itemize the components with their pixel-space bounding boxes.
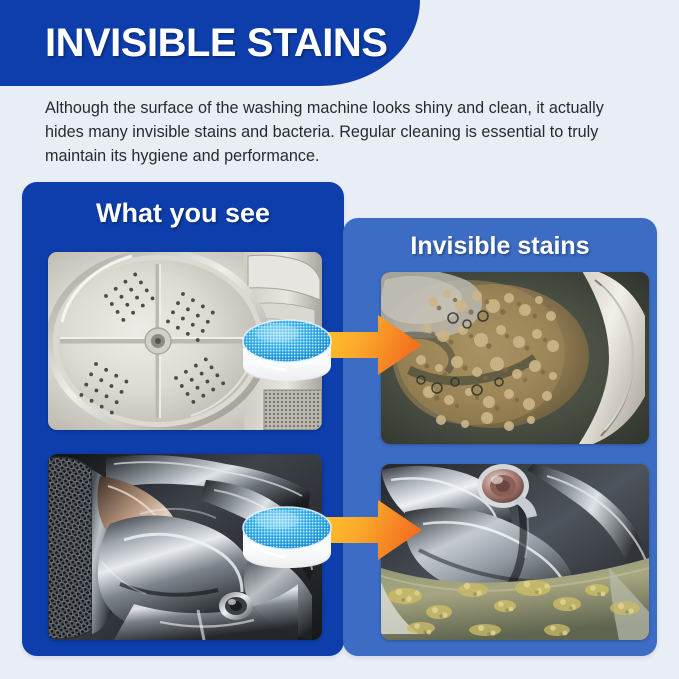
infographic-page: INVISIBLE STAINS Although the surface of…	[0, 0, 679, 679]
page-title: INVISIBLE STAINS	[45, 21, 387, 66]
panel-what-you-see-label: What you see	[22, 198, 344, 229]
panel-invisible-stains-label: Invisible stains	[343, 232, 657, 261]
intro-paragraph: Although the surface of the washing mach…	[45, 96, 645, 168]
effervescent-tablet-top	[237, 305, 337, 395]
effervescent-tablet-bottom	[237, 492, 337, 582]
header-banner: INVISIBLE STAINS	[0, 0, 420, 86]
